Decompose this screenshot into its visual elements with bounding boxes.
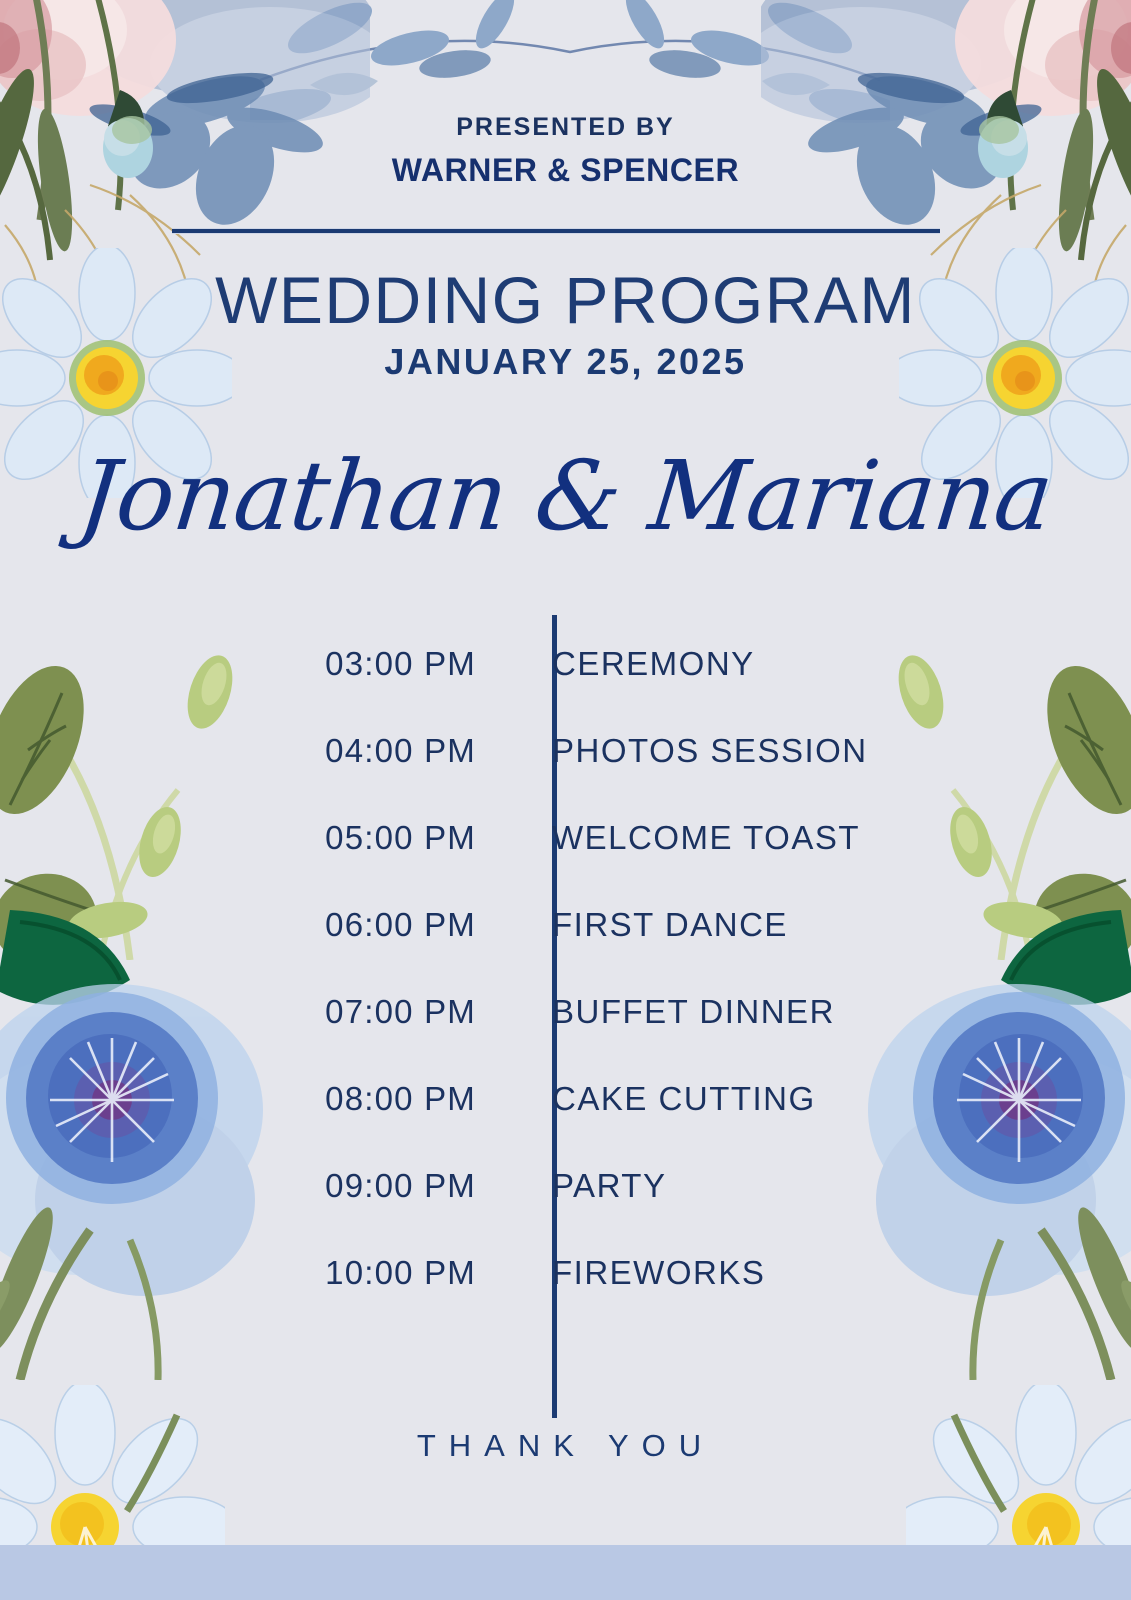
schedule-row-event: WELCOME TOAST	[516, 819, 1131, 857]
schedule-row-event: BUFFET DINNER	[516, 993, 1131, 1031]
presented-by-label: PRESENTED BY	[0, 113, 1131, 142]
schedule-row-time: 07:00 PM	[0, 993, 516, 1031]
schedule-row-time: 06:00 PM	[0, 906, 516, 944]
schedule-row: 10:00 PMFIREWORKS	[0, 1254, 1131, 1341]
schedule-row-event: PARTY	[516, 1167, 1131, 1205]
couple-names: Jonathan & Mariana	[0, 440, 1131, 552]
header-divider-rule	[172, 228, 940, 234]
schedule-row-time: 08:00 PM	[0, 1080, 516, 1118]
schedule-row-event: FIREWORKS	[516, 1254, 1131, 1292]
schedule-row: 05:00 PMWELCOME TOAST	[0, 819, 1131, 906]
schedule-row: 04:00 PMPHOTOS SESSION	[0, 732, 1131, 819]
thank-you-label: THANK YOU	[0, 1428, 1131, 1464]
schedule-row-time: 04:00 PM	[0, 732, 516, 770]
schedule-row: 03:00 PMCEREMONY	[0, 645, 1131, 732]
schedule-row: 06:00 PMFIRST DANCE	[0, 906, 1131, 993]
schedule-row-event: CEREMONY	[516, 645, 1131, 683]
schedule-row-time: 09:00 PM	[0, 1167, 516, 1205]
program-date: JANUARY 25, 2025	[0, 341, 1131, 383]
schedule-section: 03:00 PMCEREMONY04:00 PMPHOTOS SESSION05…	[0, 615, 1131, 1420]
schedule-rows: 03:00 PMCEREMONY04:00 PMPHOTOS SESSION05…	[0, 615, 1131, 1341]
schedule-row-event: FIRST DANCE	[516, 906, 1131, 944]
schedule-row-event: CAKE CUTTING	[516, 1080, 1131, 1118]
schedule-row-time: 03:00 PM	[0, 645, 516, 683]
schedule-row: 07:00 PMBUFFET DINNER	[0, 993, 1131, 1080]
schedule-row-time: 05:00 PM	[0, 819, 516, 857]
schedule-row-time: 10:00 PM	[0, 1254, 516, 1292]
page-title: WEDDING PROGRAM	[0, 262, 1131, 338]
poster-content: PRESENTED BY WARNER & SPENCER WEDDING PR…	[0, 0, 1131, 1600]
schedule-row: 08:00 PMCAKE CUTTING	[0, 1080, 1131, 1167]
wedding-program-poster: PRESENTED BY WARNER & SPENCER WEDDING PR…	[0, 0, 1131, 1600]
schedule-row: 09:00 PMPARTY	[0, 1167, 1131, 1254]
schedule-row-event: PHOTOS SESSION	[516, 732, 1131, 770]
host-names: WARNER & SPENCER	[0, 152, 1131, 189]
